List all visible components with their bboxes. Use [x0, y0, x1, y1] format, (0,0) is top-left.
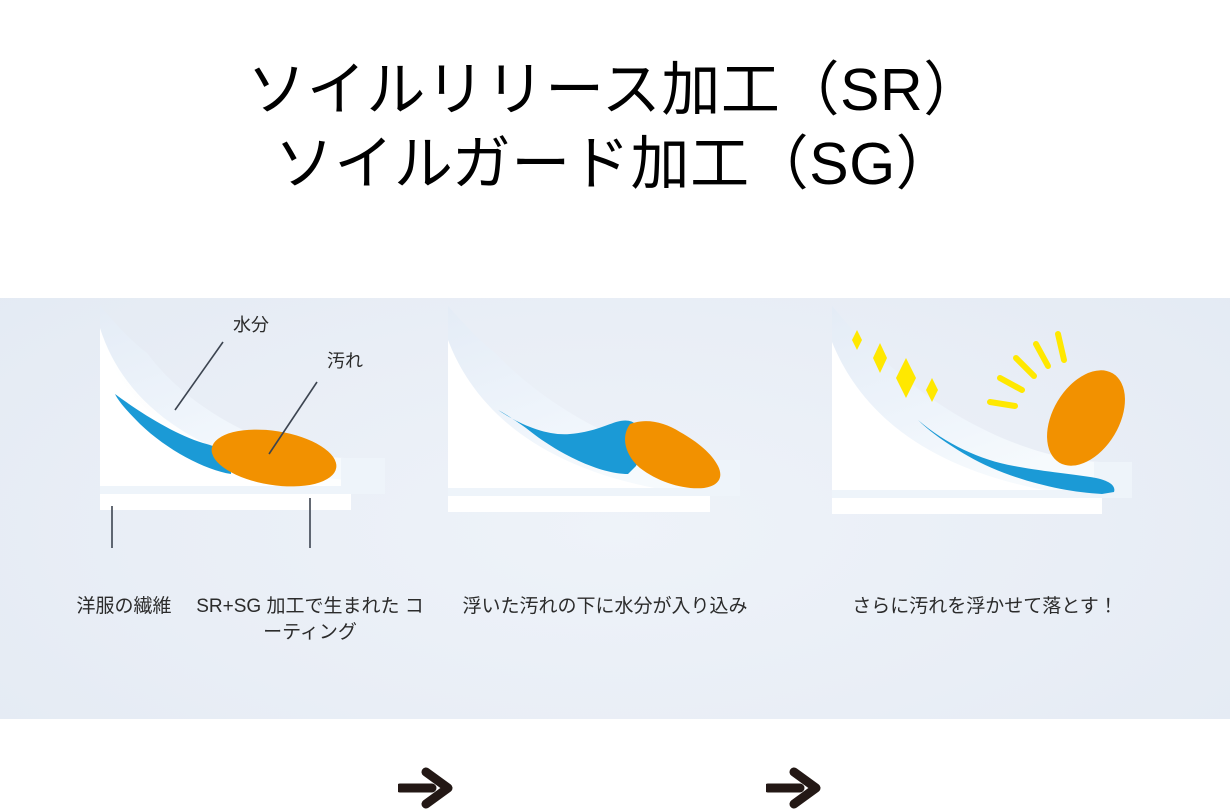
- panel-2-illustration: [440, 298, 770, 598]
- label-water: 水分: [233, 311, 269, 337]
- page-title-line-2: ソイルガード加工（SG）: [275, 128, 956, 202]
- label-dirt: 汚れ: [327, 347, 363, 373]
- panel-1-illustration: [55, 298, 415, 598]
- title-band: ソイルリリース加工（SR） ソイルガード加工（SG）: [0, 0, 1230, 298]
- diagram-panel-2: 浮いた汚れの下に水分が入り込み: [440, 298, 770, 719]
- diagram-panel-1: 水分 汚れ 洋服の繊維 SR+SG 加工で生まれた コーティング: [55, 298, 415, 719]
- panel-3-illustration: [810, 298, 1160, 598]
- caption-panel-2: 浮いた汚れの下に水分が入り込み: [440, 594, 770, 620]
- diagram-panel-3: さらに汚れを浮かせて落とす！: [810, 298, 1160, 719]
- caption-panel-3: さらに汚れを浮かせて落とす！: [810, 594, 1160, 620]
- arrow-right-icon-2: [766, 764, 822, 812]
- diagram-band: 水分 汚れ 洋服の繊維 SR+SG 加工で生まれた コーティング: [0, 298, 1230, 719]
- leader-line-water: [175, 342, 223, 410]
- page-title-line-1: ソイルリリース加工（SR）: [247, 54, 983, 128]
- arrow-right-icon-1: [398, 764, 454, 812]
- panel-row: 水分 汚れ 洋服の繊維 SR+SG 加工で生まれた コーティング: [0, 298, 1230, 719]
- shine-rays-icon: [990, 334, 1064, 406]
- caption-fiber: 洋服の繊維: [59, 594, 189, 620]
- infographic-page: ソイルリリース加工（SR） ソイルガード加工（SG）: [0, 0, 1230, 719]
- caption-coating: SR+SG 加工で生まれた コーティング: [190, 594, 430, 645]
